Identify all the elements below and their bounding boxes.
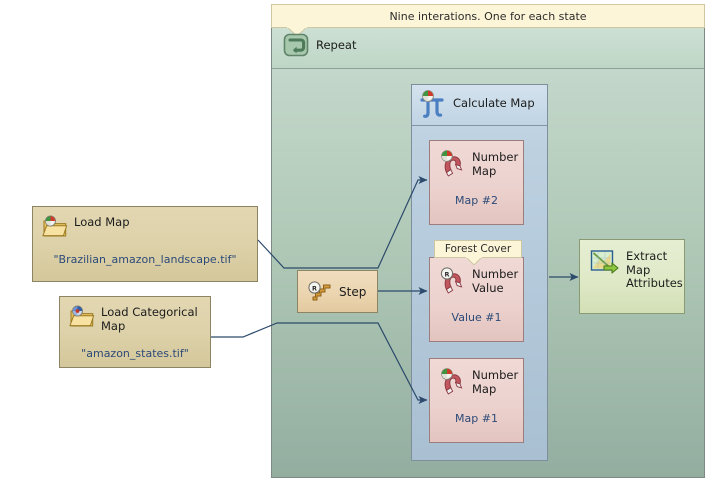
node-number-map-2-title: NumberMap: [472, 150, 518, 178]
node-number-map-1[interactable]: NumberMap Map #1: [429, 358, 524, 443]
node-step[interactable]: R Step: [297, 270, 378, 313]
magnet-number-map-icon: [440, 150, 466, 177]
node-number-value-1[interactable]: R NumberValue Value #1: [429, 257, 524, 342]
node-step-title: Step: [339, 285, 366, 299]
node-load-categorical-map-title: Load Categorical Map: [101, 305, 201, 333]
forest-cover-note-tail-icon: [466, 257, 482, 265]
svg-text:R: R: [445, 270, 450, 278]
magnet-number-map-icon: [440, 368, 466, 395]
diagram-canvas: Nine interations. One for each state Rep…: [0, 0, 715, 485]
calculate-map-group-title: Calculate Map: [419, 88, 535, 118]
extract-map-attributes-icon: [590, 249, 620, 277]
node-number-value-1-value: Value #1: [440, 311, 513, 324]
stairs-step-icon: R: [308, 279, 332, 305]
node-number-value-1-header: R NumberValue: [440, 267, 513, 295]
node-number-map-2-value: Map #2: [440, 194, 513, 207]
node-extract-map-attributes[interactable]: ExtractMapAttributes: [579, 239, 685, 314]
node-load-map[interactable]: Load Map "Brazilian_amazon_landscape.tif…: [32, 206, 258, 282]
repeat-group-title: Repeat: [283, 32, 356, 58]
magnet-number-value-icon: R: [440, 267, 466, 294]
node-number-value-1-title: NumberValue: [472, 267, 518, 295]
node-load-categorical-map[interactable]: Load Categorical Map "amazon_states.tif": [59, 296, 211, 368]
svg-text:R: R: [312, 284, 317, 292]
node-number-map-1-value: Map #1: [440, 412, 513, 425]
node-number-map-2-header: NumberMap: [440, 150, 513, 178]
repeat-note-text: Nine interations. One for each state: [389, 10, 586, 23]
node-number-map-1-header: NumberMap: [440, 368, 513, 396]
node-number-map-2[interactable]: NumberMap Map #2: [429, 140, 524, 225]
node-extract-map-attributes-title: ExtractMapAttributes: [626, 249, 683, 291]
forest-cover-note-text: Forest Cover: [445, 243, 511, 255]
pi-calculate-map-icon: [419, 88, 447, 118]
node-extract-map-attributes-header: ExtractMapAttributes: [590, 249, 674, 291]
folder-map-icon: [42, 215, 68, 239]
node-load-map-value: "Brazilian_amazon_landscape.tif": [42, 253, 248, 266]
repeat-group-label: Repeat: [316, 38, 356, 52]
node-load-categorical-map-header: Load Categorical Map: [69, 305, 201, 333]
calculate-map-group-label: Calculate Map: [453, 96, 535, 110]
node-load-map-title: Load Map: [74, 215, 130, 230]
repeat-loop-icon: [283, 32, 309, 58]
repeat-annotation-note[interactable]: Nine interations. One for each state: [271, 4, 705, 28]
forest-cover-note[interactable]: Forest Cover: [434, 240, 522, 258]
node-load-map-header: Load Map: [42, 215, 248, 239]
folder-categorical-map-icon: [69, 305, 95, 329]
node-number-map-1-title: NumberMap: [472, 368, 518, 396]
node-load-categorical-map-value: "amazon_states.tif": [69, 347, 201, 360]
